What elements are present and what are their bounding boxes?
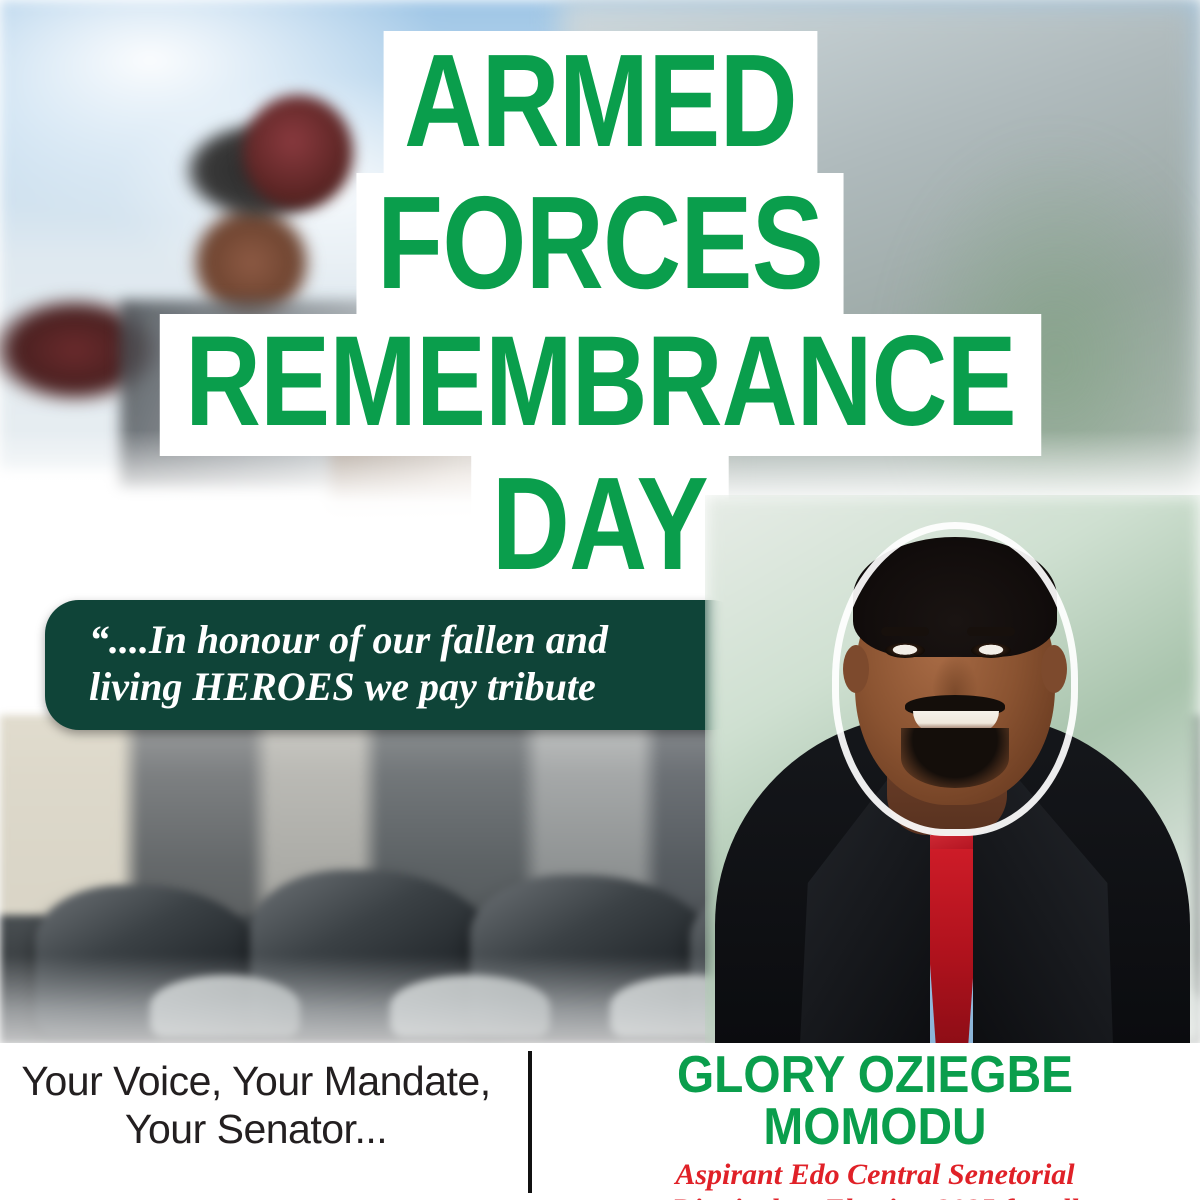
footer-slogan-block: Your Voice, Your Mandate, Your Senator..…	[0, 1057, 512, 1154]
portrait-eye-left	[885, 643, 925, 658]
headline-word-armed: ARMED	[390, 40, 809, 168]
headline-word-remembrance: REMEMBRANCE	[167, 323, 1034, 447]
headline-row-3: REMEMBRANCE	[0, 309, 1200, 447]
footer-divider	[528, 1051, 532, 1193]
headline-row-2: FORCES	[0, 168, 1200, 310]
footer-bar: Your Voice, Your Mandate, Your Senator..…	[0, 1043, 1200, 1200]
footer-candidate-block: GLORY OZIEGBE MOMODU Aspirant Edo Centra…	[550, 1049, 1200, 1200]
tribute-quote-box: “....In honour of our fallen and living …	[45, 600, 745, 730]
portrait-beard	[901, 728, 1009, 788]
portrait-ear-right	[1041, 645, 1067, 693]
portrait-eye-right	[971, 643, 1011, 658]
campaign-slogan: Your Voice, Your Mandate, Your Senator..…	[0, 1057, 512, 1154]
candidate-role: Aspirant Edo Central Senetorial District…	[550, 1157, 1200, 1200]
headline-row-1: ARMED	[0, 40, 1200, 168]
portrait-eyebrow-right	[967, 627, 1015, 636]
headline-word-day: DAY	[479, 463, 721, 591]
portrait-eyebrow-left	[881, 627, 929, 636]
headline-word-forces: FORCES	[364, 182, 836, 310]
portrait-ear-left	[843, 645, 869, 693]
tribute-quote-text: “....In honour of our fallen and living …	[89, 616, 721, 710]
portrait-hair	[853, 537, 1057, 657]
candidate-name: GLORY OZIEGBE MOMODU	[576, 1049, 1174, 1153]
poster-canvas: ARMED FORCES REMEMBRANCE DAY “....In hon…	[0, 0, 1200, 1200]
candidate-portrait	[705, 495, 1200, 1045]
